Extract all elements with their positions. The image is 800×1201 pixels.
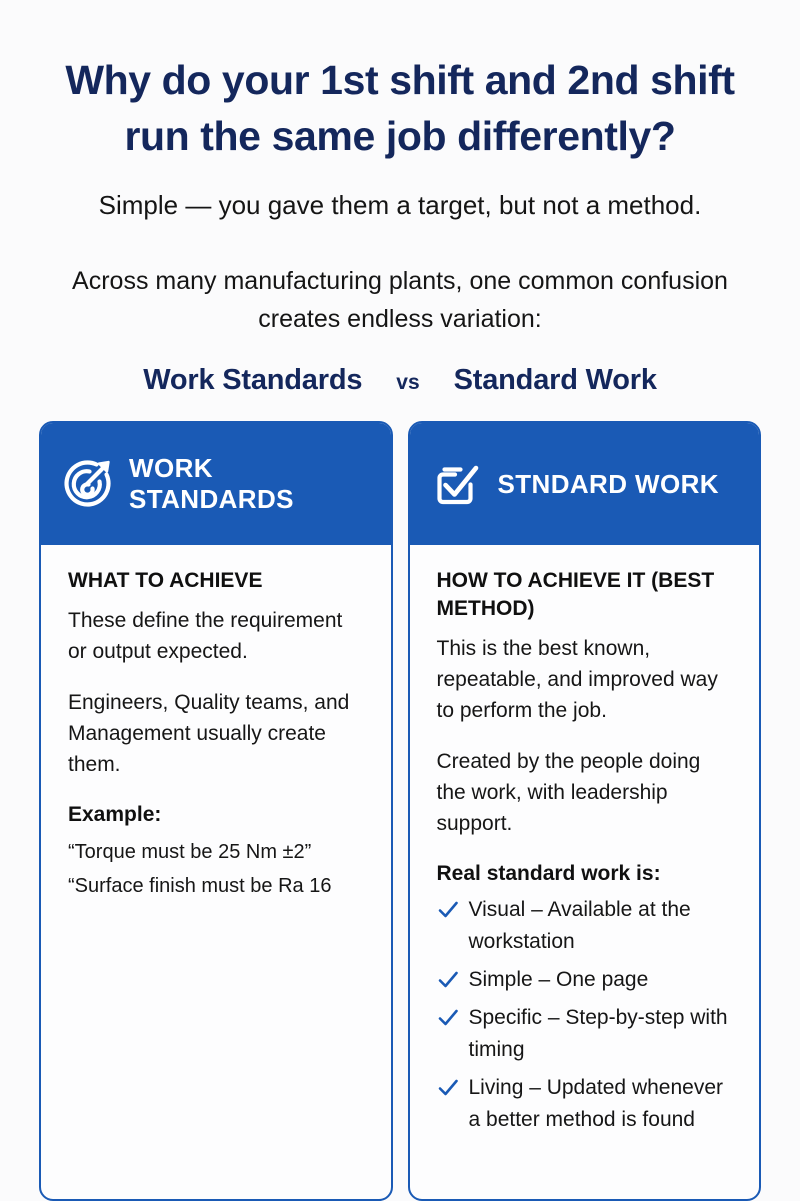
check-icon (437, 1003, 459, 1033)
how-to-achieve-title: HOW TO ACHIEVE IT (BEST METHOD) (437, 567, 736, 623)
list-item: Living – Updated whenever a better metho… (437, 1072, 736, 1136)
infographic-page: Why do your 1st shift and 2nd shift run … (0, 0, 800, 1200)
example-quote-1: “Torque must be 25 Nm ±2” (68, 835, 367, 869)
target-icon (61, 458, 113, 510)
work-standards-card-body: WHAT TO ACHIEVE These define the require… (41, 545, 391, 1199)
work-standards-card-title: WORK STANDARDS (129, 453, 377, 515)
list-item-label: Living – Updated whenever a better metho… (469, 1072, 736, 1136)
work-standards-card: WORK STANDARDS WHAT TO ACHIEVE These def… (39, 421, 393, 1201)
page-title: Why do your 1st shift and 2nd shift run … (0, 0, 800, 164)
check-icon (437, 1073, 459, 1103)
comparison-vs-label: vs (396, 371, 419, 395)
check-icon (437, 895, 459, 925)
list-item: Simple – One page (437, 964, 736, 996)
list-item: Visual – Available at the workstation (437, 894, 736, 958)
what-to-achieve-title: WHAT TO ACHIEVE (68, 567, 367, 595)
standard-work-paragraph-2: Created by the people doing the work, wi… (437, 746, 736, 839)
comparison-right-title: Standard Work (454, 364, 657, 397)
comparison-left-title: Work Standards (143, 364, 362, 397)
example-label: Example: (68, 800, 367, 829)
work-standards-paragraph-2: Engineers, Quality teams, and Management… (68, 687, 367, 780)
list-item-label: Specific – Step-by-step with timing (469, 1002, 736, 1066)
standard-work-card-body: HOW TO ACHIEVE IT (BEST METHOD) This is … (410, 545, 760, 1199)
list-item-label: Visual – Available at the workstation (469, 894, 736, 958)
intro-paragraph: Across many manufacturing plants, one co… (0, 222, 800, 338)
standard-work-paragraph-1: This is the best known, repeatable, and … (437, 633, 736, 726)
list-item-label: Simple – One page (469, 964, 649, 996)
check-icon (437, 965, 459, 995)
page-subtitle: Simple — you gave them a target, but not… (0, 164, 800, 222)
checkbox-check-icon (430, 458, 482, 510)
comparison-heading: Work Standards vs Standard Work (0, 364, 800, 397)
comparison-cards: WORK STANDARDS WHAT TO ACHIEVE These def… (0, 421, 800, 1201)
standard-work-card-title: STNDARD WORK (498, 469, 719, 500)
standard-work-card-header: STNDARD WORK (410, 423, 760, 545)
standard-work-checklist: Visual – Available at the workstation Si… (437, 894, 736, 1136)
checklist-label: Real standard work is: (437, 859, 736, 888)
work-standards-card-header: WORK STANDARDS (41, 423, 391, 545)
list-item: Specific – Step-by-step with timing (437, 1002, 736, 1066)
work-standards-paragraph-1: These define the requirement or output e… (68, 605, 367, 667)
standard-work-card: STNDARD WORK HOW TO ACHIEVE IT (BEST MET… (408, 421, 762, 1201)
example-quote-2: “Surface finish must be Ra 16 (68, 869, 367, 903)
